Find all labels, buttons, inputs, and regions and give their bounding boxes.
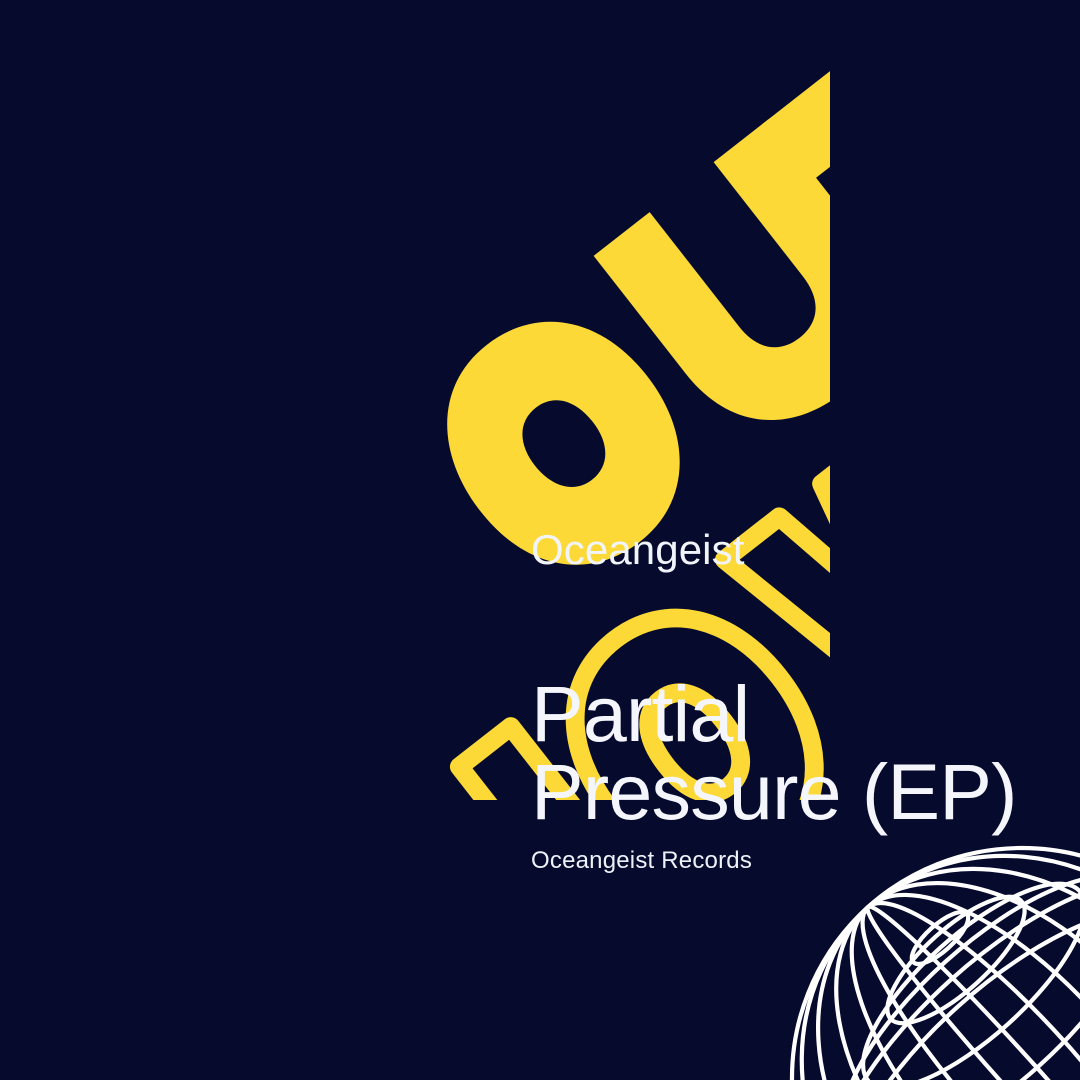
artist-name: Oceangeist	[531, 528, 1051, 572]
wireframe-globe-svg	[760, 820, 1080, 1080]
release-title-line-1: Partial	[531, 675, 1051, 753]
wireframe-globe-icon	[760, 820, 1080, 1080]
promo-word-now-text: NOW!	[0, 800, 1, 801]
promo-word-out	[399, 0, 830, 613]
release-title: Partial Pressure (EP)	[531, 675, 1051, 831]
album-promo-poster: OUT NOW! Oceangeist Partial Pressure (EP…	[0, 0, 1080, 1080]
promo-word-out-text: OUT	[0, 800, 1, 801]
